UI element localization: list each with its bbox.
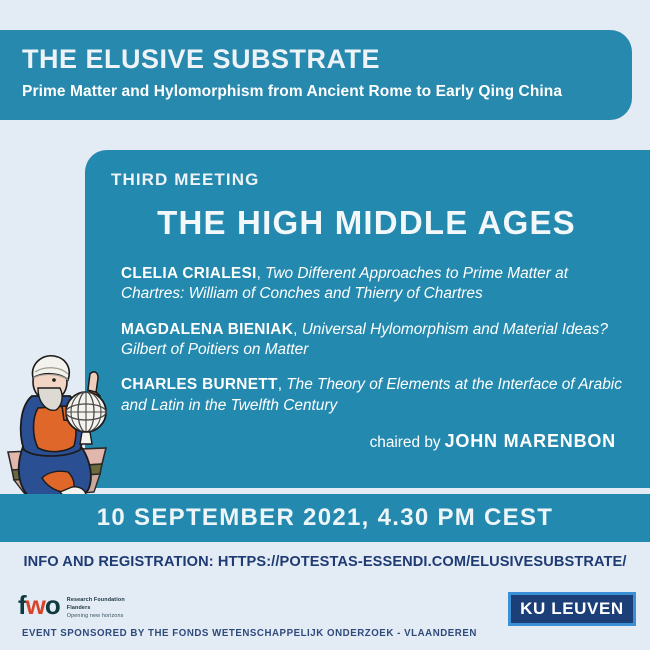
- list-item: CLELIA CRIALESI, Two Different Approache…: [111, 264, 628, 305]
- fwo-tagline: Research Foundation Flanders Opening new…: [67, 594, 125, 620]
- main-panel: THIRD MEETING THE HIGH MIDDLE AGES CLELI…: [85, 150, 650, 488]
- fwo-tagline-line3: Opening new horizons: [67, 613, 125, 621]
- date-bar: 10 SEPTEMBER 2021, 4.30 PM CEST: [0, 494, 650, 542]
- talk-speaker: MAGDALENA BIENIAK: [121, 321, 293, 338]
- kuleuven-label: KU LEUVEN: [520, 599, 624, 619]
- fwo-logo: fwo Research Foundation Flanders Opening…: [18, 594, 125, 620]
- kuleuven-logo: KU LEUVEN: [508, 592, 636, 626]
- sponsor-line: EVENT SPONSORED BY THE FONDS WETENSCHAPP…: [22, 628, 477, 639]
- fwo-tagline-line1: Research Foundation: [67, 597, 125, 605]
- chair-line: chaired byJOHN MARENBON: [111, 431, 628, 452]
- meeting-label: THIRD MEETING: [111, 170, 628, 190]
- fwo-wordmark: fwo: [18, 594, 60, 617]
- event-date: 10 SEPTEMBER 2021, 4.30 PM CEST: [97, 504, 553, 532]
- footer: fwo Research Foundation Flanders Opening…: [0, 580, 650, 650]
- page-title: THE ELUSIVE SUBSTRATE: [22, 44, 632, 74]
- registration-bar: INFO AND REGISTRATION: HTTPS://POTESTAS-…: [0, 548, 650, 576]
- fwo-letter-w: w: [26, 594, 45, 617]
- fwo-tagline-line2: Flanders: [67, 605, 125, 613]
- list-item: MAGDALENA BIENIAK, Universal Hylomorphis…: [111, 320, 628, 361]
- fwo-letter-f: f: [18, 594, 26, 617]
- chair-name: JOHN MARENBON: [445, 431, 616, 451]
- chair-prefix: chaired by: [370, 434, 441, 451]
- talks-list: CLELIA CRIALESI, Two Different Approache…: [111, 264, 628, 416]
- talk-separator: ,: [257, 265, 261, 282]
- talk-separator: ,: [293, 321, 297, 338]
- talk-speaker: CLELIA CRIALESI: [121, 265, 257, 282]
- header-bar: THE ELUSIVE SUBSTRATE Prime Matter and H…: [0, 30, 632, 120]
- medieval-scholar-illustration: [2, 352, 124, 510]
- page-subtitle: Prime Matter and Hylomorphism from Ancie…: [22, 83, 632, 101]
- talk-separator: ,: [278, 376, 282, 393]
- talk-speaker: CHARLES BURNETT: [121, 376, 278, 393]
- list-item: CHARLES BURNETT, The Theory of Elements …: [111, 375, 628, 416]
- meeting-title: THE HIGH MIDDLE AGES: [111, 204, 628, 242]
- registration-link[interactable]: INFO AND REGISTRATION: HTTPS://POTESTAS-…: [23, 554, 626, 570]
- poster-root: THE ELUSIVE SUBSTRATE Prime Matter and H…: [0, 0, 650, 650]
- fwo-letter-o: o: [45, 594, 60, 617]
